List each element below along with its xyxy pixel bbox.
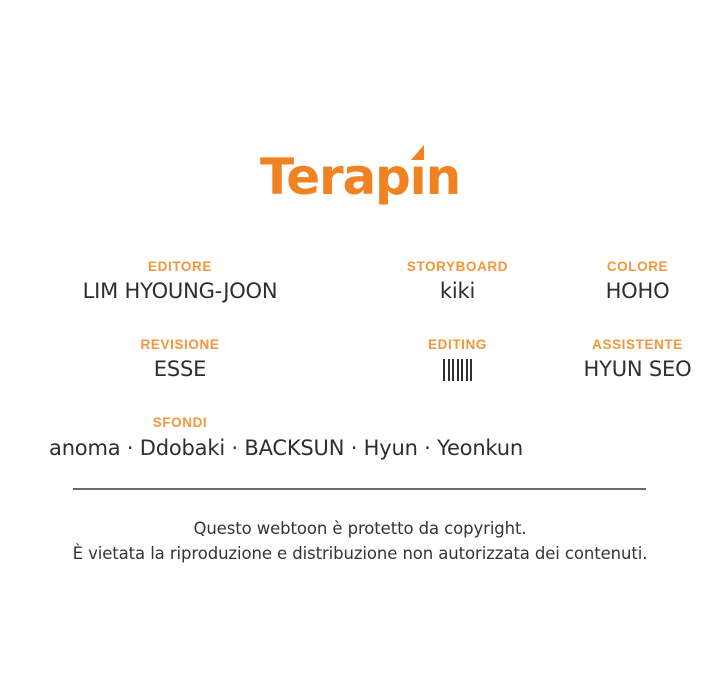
credit-value: LIM HYOUNG-JOON: [0, 278, 360, 305]
section-divider: [73, 488, 646, 490]
credit-assistente: ASSISTENTE HYUN SEO: [555, 336, 720, 383]
credit-value: HOHO: [555, 278, 720, 305]
logo-text-after-accent: n: [426, 148, 460, 206]
credit-value: [360, 356, 555, 383]
terapin-logo: Terapin: [260, 152, 460, 202]
credit-editing: EDITING: [360, 336, 555, 383]
credit-colore: COLORE HOHO: [555, 258, 720, 305]
copyright-notice: Questo webtoon è protetto da copyright. …: [0, 516, 720, 566]
logo-container: Terapin: [0, 152, 720, 202]
credit-label: EDITING: [360, 336, 555, 353]
missing-glyph-bars: [443, 359, 472, 381]
credit-label: COLORE: [555, 258, 720, 275]
credit-label: ASSISTENTE: [555, 336, 720, 353]
credits-page: Terapin EDITORE LIM HYOUNG-JOON STORYBOA…: [0, 0, 720, 700]
credit-value: anoma · Ddobaki · BACKSUN · Hyun · Yeonk…: [0, 434, 572, 462]
credit-value: kiki: [360, 278, 555, 305]
credit-label: SFONDI: [0, 414, 360, 431]
logo-accented-i: i: [410, 152, 426, 202]
credits-row-two: REVISIONE ESSE EDITING ASSISTENTE HYUN S…: [0, 336, 720, 383]
credit-label: STORYBOARD: [360, 258, 555, 275]
logo-text-before-accent: Terap: [260, 148, 410, 206]
credit-label: REVISIONE: [0, 336, 360, 353]
credit-label: EDITORE: [0, 258, 360, 275]
credit-storyboard: STORYBOARD kiki: [360, 258, 555, 305]
credit-value: ESSE: [0, 356, 360, 383]
credit-revisione: REVISIONE ESSE: [0, 336, 360, 383]
acute-accent-icon: [411, 145, 424, 160]
credits-row-one: EDITORE LIM HYOUNG-JOON STORYBOARD kiki …: [0, 258, 720, 305]
credit-value: HYUN SEO: [555, 356, 720, 383]
copyright-line-one: Questo webtoon è protetto da copyright.: [0, 516, 720, 541]
credit-editore: EDITORE LIM HYOUNG-JOON: [0, 258, 360, 305]
copyright-line-two: È vietata la riproduzione e distribuzion…: [0, 541, 720, 566]
